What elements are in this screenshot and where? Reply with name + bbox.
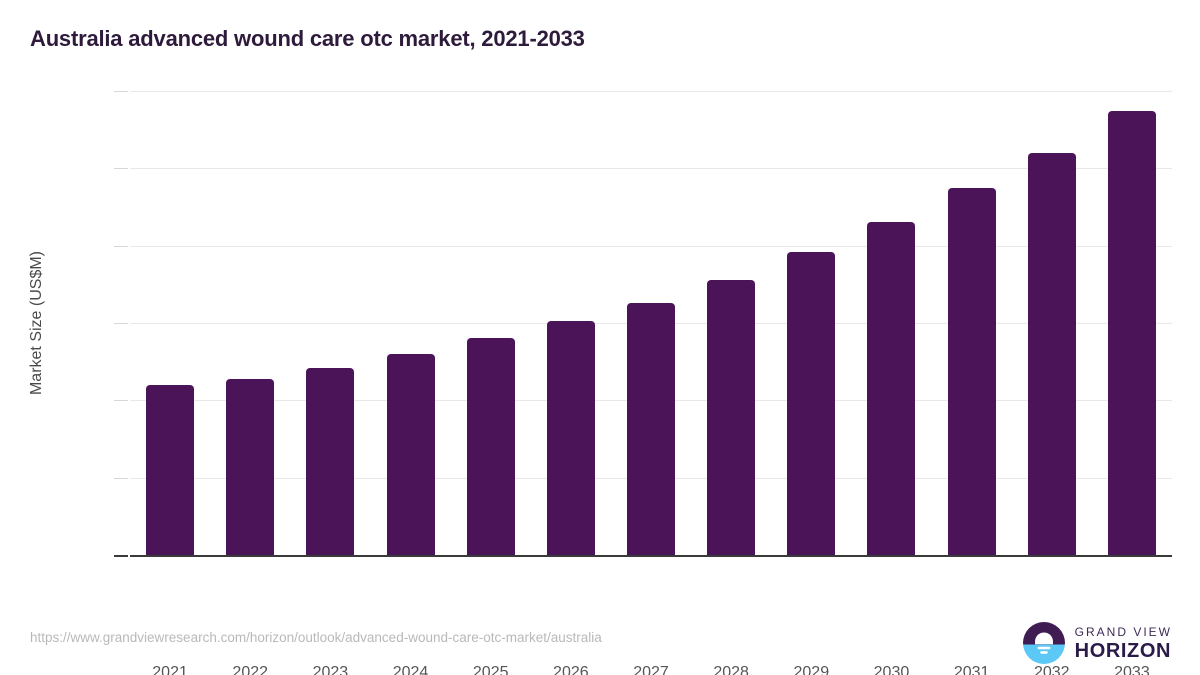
y-axis-title: Market Size (US$M) (28, 251, 46, 395)
logo-wordmark: GRAND VIEW HORIZON (1075, 626, 1172, 661)
y-tick-mark-0 (114, 555, 128, 557)
y-tick-mark-100 (114, 400, 128, 401)
bar-2033[interactable] (1108, 111, 1156, 555)
grand-view-horizon-logo-icon (1022, 621, 1066, 665)
x-tick-label-2021: 2021 (130, 664, 210, 675)
x-tick-label-2023: 2023 (290, 664, 370, 675)
gridline-250 (130, 168, 1172, 169)
brand-logo: GRAND VIEW HORIZON (1022, 620, 1172, 666)
bar-2026[interactable] (547, 321, 595, 555)
x-tick-label-2031: 2031 (932, 664, 1012, 675)
x-tick-label-2027: 2027 (611, 664, 691, 675)
logo-line-1: GRAND VIEW (1075, 626, 1172, 638)
y-tick-mark-250 (114, 168, 128, 169)
x-tick-label-2022: 2022 (210, 664, 290, 675)
bar-2031[interactable] (948, 188, 996, 555)
bar-2025[interactable] (467, 338, 515, 555)
source-url: https://www.grandviewresearch.com/horizo… (30, 630, 602, 645)
bar-2021[interactable] (146, 385, 194, 555)
bar-2030[interactable] (867, 222, 915, 555)
bar-2029[interactable] (787, 252, 835, 555)
y-tick-mark-200 (114, 246, 128, 247)
bar-2032[interactable] (1028, 153, 1076, 555)
x-tick-label-2029: 2029 (771, 664, 851, 675)
bar-2023[interactable] (306, 368, 354, 555)
bar-2027[interactable] (627, 303, 675, 555)
chart-screenshot: Australia advanced wound care otc market… (0, 0, 1200, 675)
bar-2024[interactable] (387, 354, 435, 555)
gridline-300 (130, 91, 1172, 92)
x-tick-label-2030: 2030 (851, 664, 931, 675)
gridline-0 (130, 555, 1172, 557)
x-tick-label-2026: 2026 (531, 664, 611, 675)
bar-2028[interactable] (707, 280, 755, 555)
y-tick-mark-300 (114, 91, 128, 92)
y-tick-mark-50 (114, 478, 128, 479)
bar-2022[interactable] (226, 379, 274, 555)
x-tick-label-2024: 2024 (371, 664, 451, 675)
gridline-200 (130, 246, 1172, 247)
logo-line-2: HORIZON (1075, 641, 1172, 661)
x-tick-label-2028: 2028 (691, 664, 771, 675)
y-tick-mark-150 (114, 323, 128, 324)
x-tick-label-2025: 2025 (451, 664, 531, 675)
page-title: Australia advanced wound care otc market… (30, 26, 585, 52)
plot-area: 050100150200250300 202120222023202420252… (130, 91, 1172, 555)
